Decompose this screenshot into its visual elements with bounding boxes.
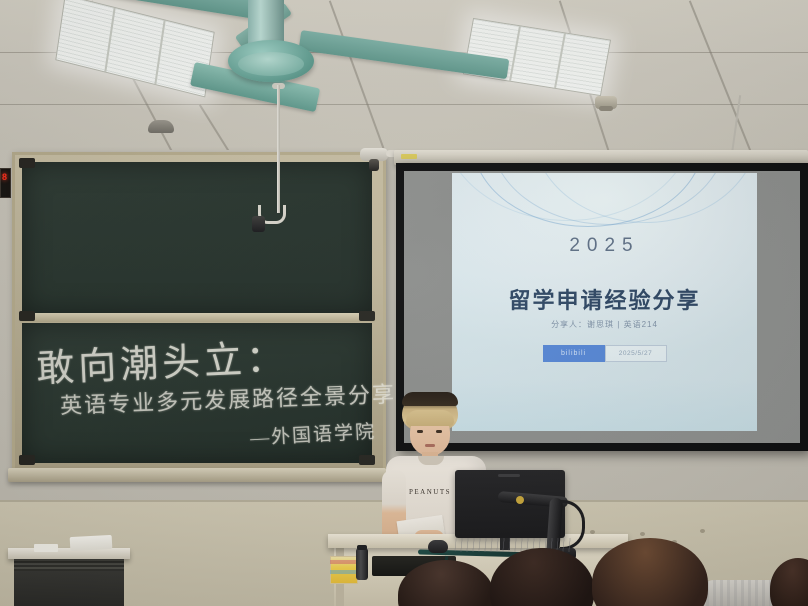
blackboard-upper-panel [22, 162, 372, 314]
slide-year: 2025 [452, 235, 757, 257]
bottle-cap [357, 545, 367, 550]
smoke-detector-base [599, 106, 613, 111]
presenter-hair-roots [402, 392, 458, 406]
presenter-eye [436, 430, 442, 433]
camera-lens-icon [369, 159, 379, 171]
projected-slide: 2025 留学申请经验分享 分享人：谢思琪 | 英语214 bilibili20… [452, 173, 757, 431]
fan-hub-cap [238, 52, 304, 76]
hanging-rod [277, 85, 280, 213]
monitor-logo [498, 474, 520, 477]
presenter-bangs [406, 410, 454, 426]
papers [34, 544, 58, 552]
monitor-arm-knob[interactable] [516, 496, 524, 504]
slide-footer-row: bilibili2025/5/27 [452, 345, 757, 363]
slide-subtitle: 分享人：谢思琪 | 英语214 [452, 319, 757, 330]
slide-brand-button: bilibili [543, 345, 605, 362]
blackboard-rail [19, 313, 375, 322]
papers [70, 535, 113, 551]
hanging-microphone-icon [252, 216, 265, 232]
slide-date-label: 2025/5/27 [605, 345, 667, 362]
presenter-eye [417, 430, 423, 433]
slide-title: 留学申请经验分享 [452, 283, 757, 315]
side-table-top [8, 548, 130, 559]
dome-camera-icon [148, 120, 174, 133]
classroom-photo: 8 敢向潮头立： 英语专业多元发展路径全景分享会 —外国语学院 2025 留学申… [0, 0, 808, 606]
led-sign-text: 8 [0, 172, 9, 192]
screen-housing-tab [401, 154, 417, 159]
presenter-mouth [425, 444, 435, 447]
water-bottle [356, 548, 368, 580]
snack-box-stripe [330, 560, 356, 564]
slide-bottom-gradient [452, 379, 757, 431]
snack-box-stripe [330, 570, 356, 574]
chalk-ledge [8, 468, 386, 482]
mouse[interactable] [428, 540, 448, 553]
side-table-vent [14, 559, 124, 571]
ceiling [0, 0, 808, 172]
